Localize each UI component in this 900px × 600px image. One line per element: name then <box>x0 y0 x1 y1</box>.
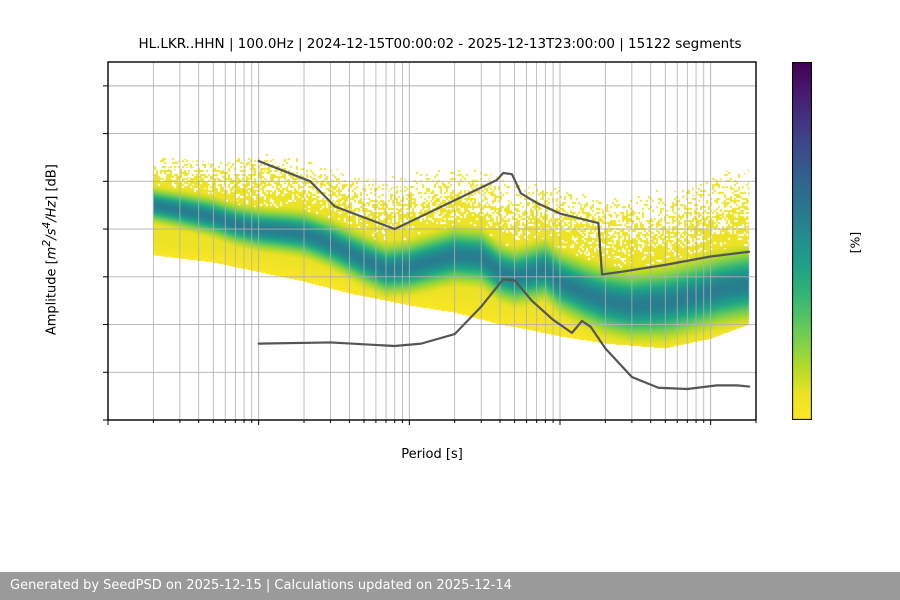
data-availability-timeline <box>0 0 900 600</box>
footer-text: Generated by SeedPSD on 2025-12-15 | Cal… <box>10 578 512 593</box>
psd-figure: HL.LKR..HHN | 100.0Hz | 2024-12-15T00:00… <box>0 0 900 600</box>
